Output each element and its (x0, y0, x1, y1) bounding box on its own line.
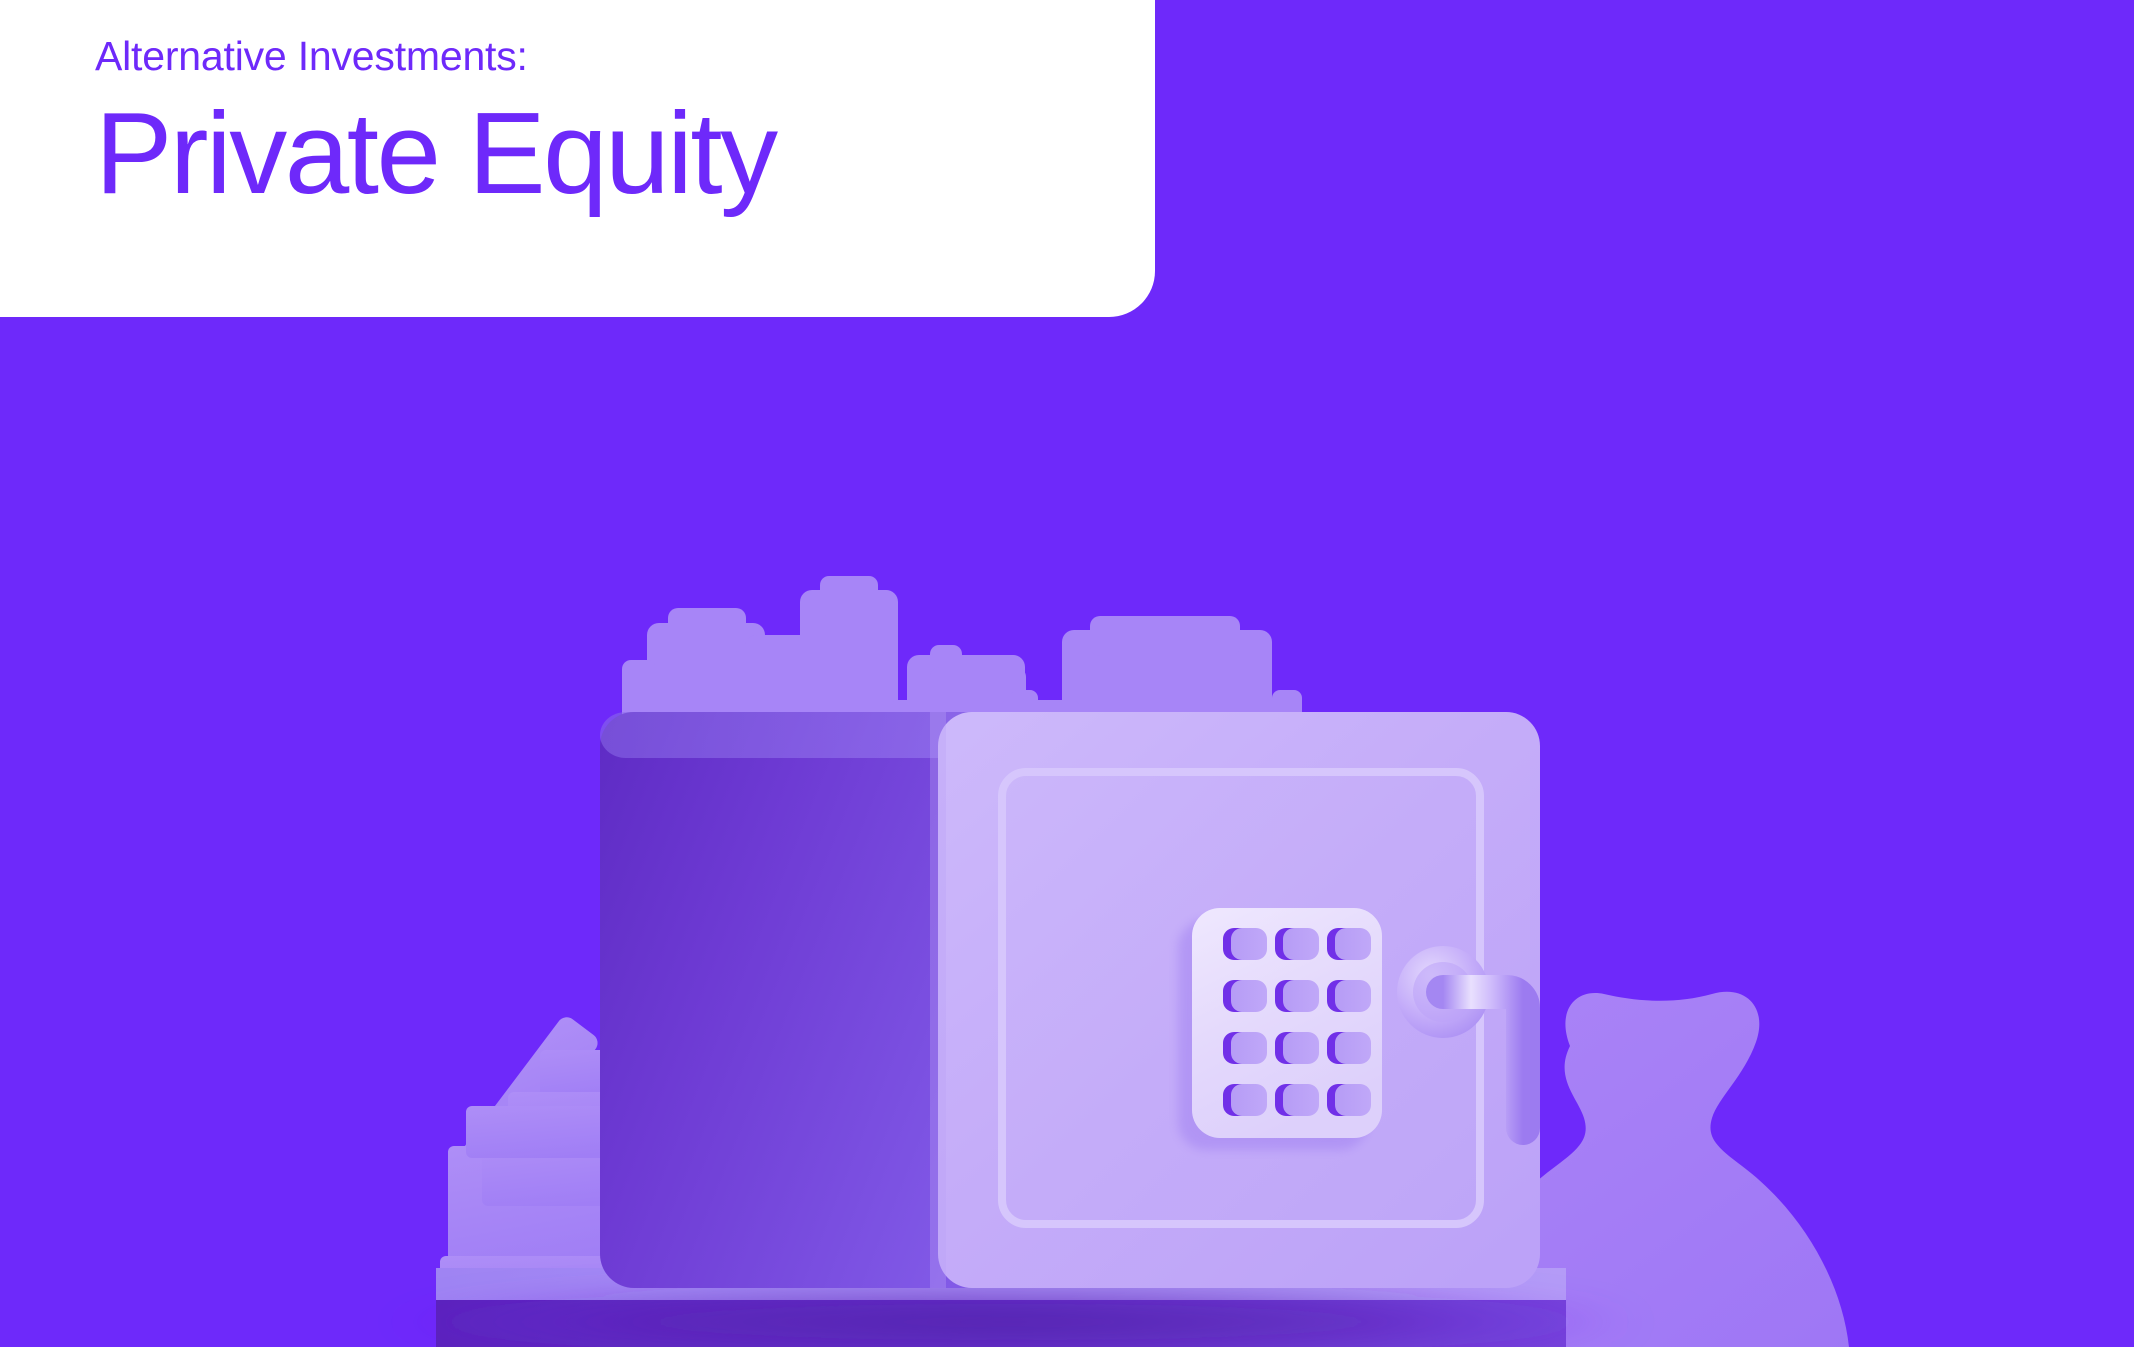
keypad[interactable] (1178, 908, 1382, 1150)
keypad-key (1335, 1032, 1371, 1064)
keypad-key (1231, 1032, 1267, 1064)
keypad-key (1283, 1032, 1319, 1064)
keypad-key (1335, 980, 1371, 1012)
keypad-key (1335, 928, 1371, 960)
keypad-key (1283, 1084, 1319, 1116)
eyebrow-label: Alternative Investments: (95, 35, 1115, 78)
slide-canvas: Alternative Investments: Private Equity (0, 0, 2134, 1347)
title-text-group: Alternative Investments: Private Equity (95, 35, 1115, 212)
title-card: Alternative Investments: Private Equity (0, 0, 1155, 317)
page-title: Private Equity (95, 94, 1115, 212)
keypad-key (1335, 1084, 1371, 1116)
keypad-key (1231, 980, 1267, 1012)
keypad-key (1283, 928, 1319, 960)
keypad-key (1231, 1084, 1267, 1116)
keypad-key (1231, 928, 1267, 960)
keypad-key (1283, 980, 1319, 1012)
